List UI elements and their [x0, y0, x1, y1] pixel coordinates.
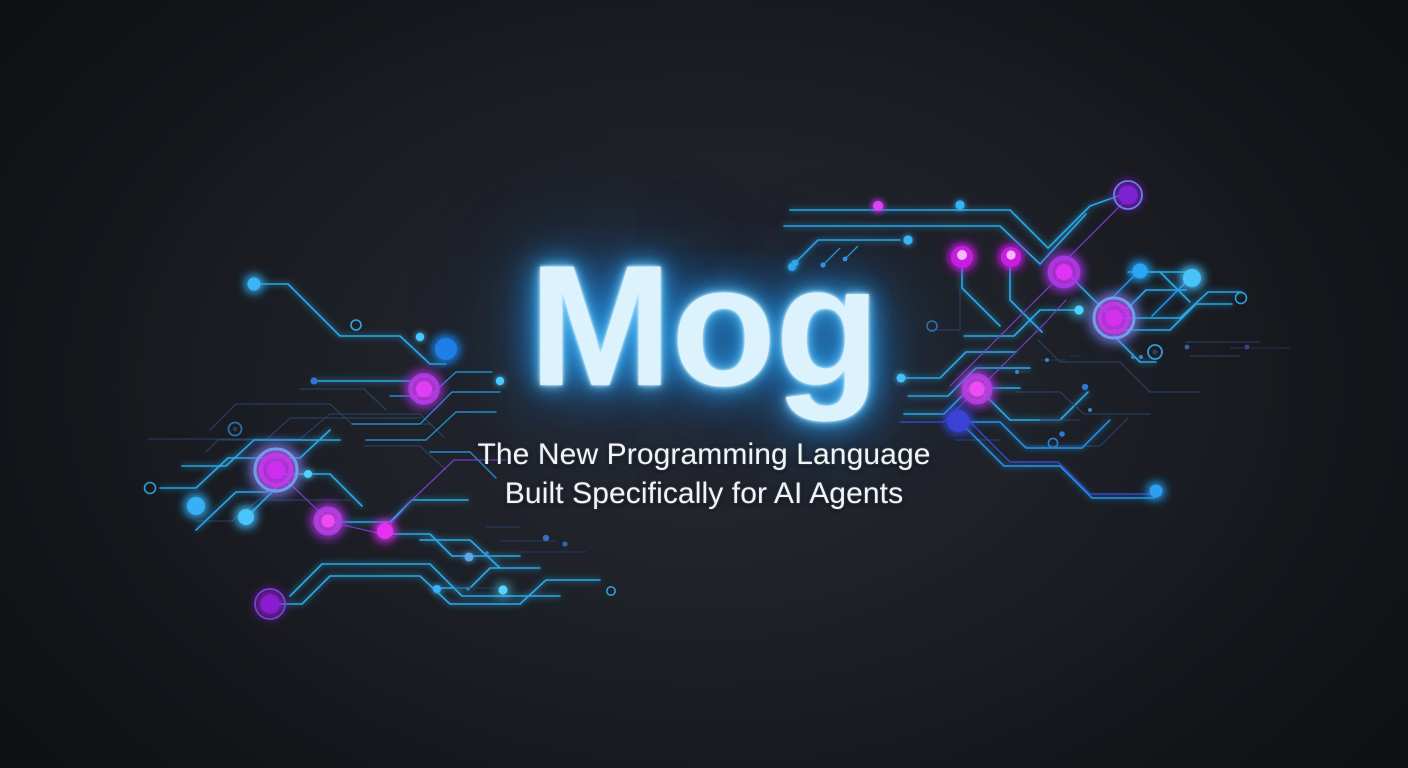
- left-nodes: [145, 270, 616, 628]
- circuit-graphic: [0, 0, 1408, 768]
- left-traces: [148, 284, 600, 604]
- center-top-ticks: [796, 246, 858, 264]
- right-nodes: [788, 172, 1249, 504]
- hero-banner: Mog The New Programming Language Built S…: [0, 0, 1408, 768]
- right-traces: [784, 196, 1290, 498]
